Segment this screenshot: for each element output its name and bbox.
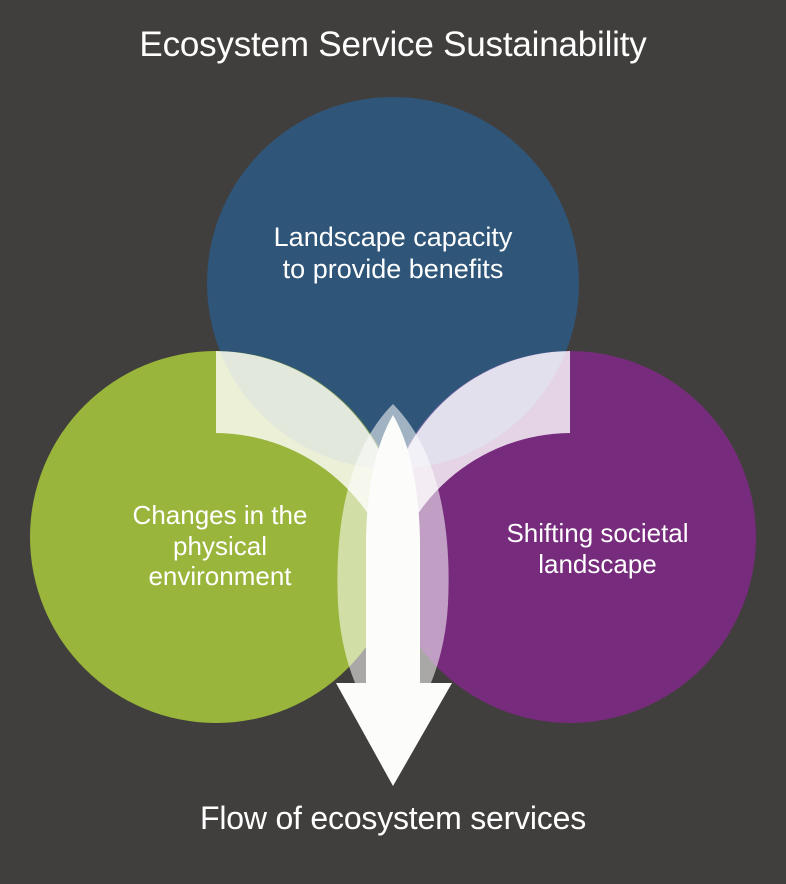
venn-diagram-svg: [0, 0, 786, 884]
diagram-canvas: Ecosystem Service Sustainability Landsca…: [0, 0, 786, 884]
